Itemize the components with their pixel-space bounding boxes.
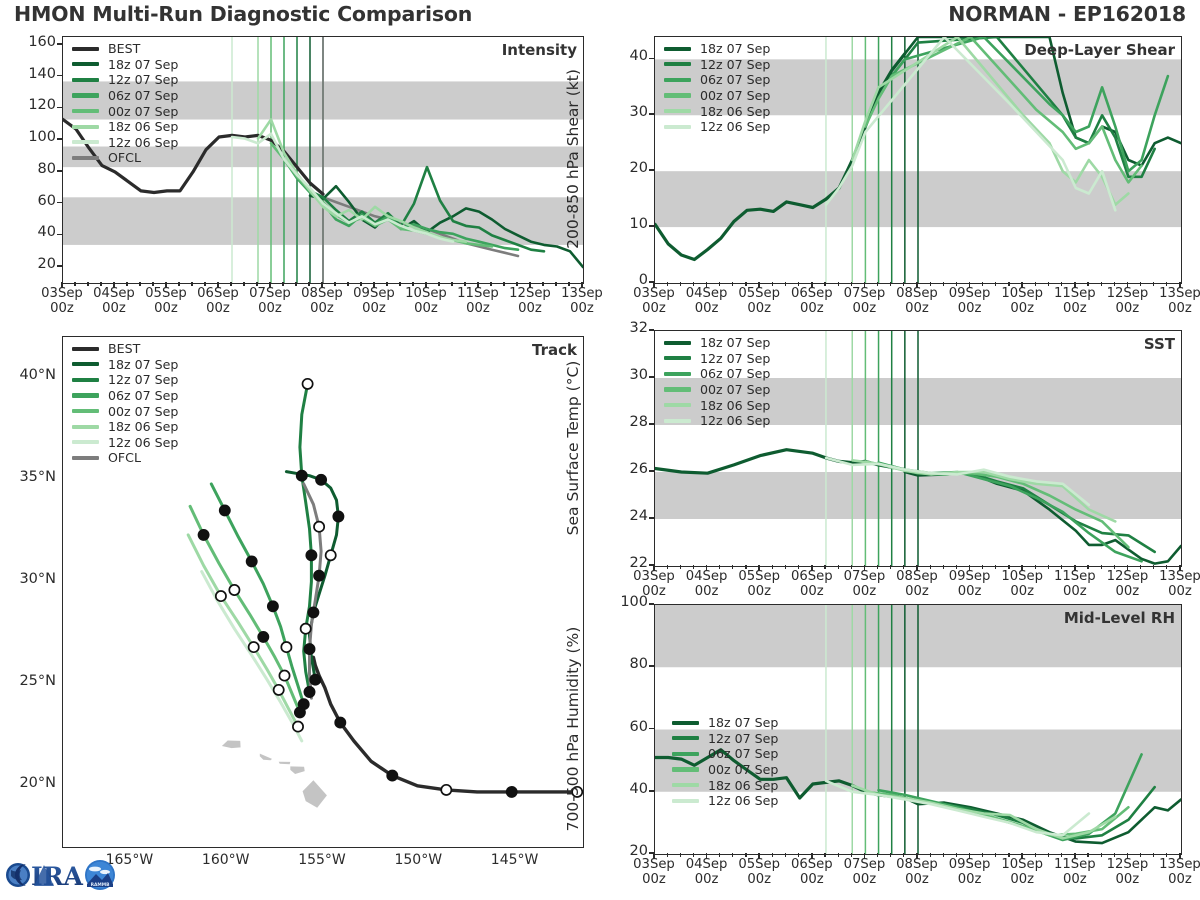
x-minor-tick — [1048, 565, 1049, 569]
x-tick-hour: 00z — [1063, 301, 1087, 316]
x-tick-hour: 00z — [1168, 872, 1192, 887]
x-minor-tick — [1101, 565, 1102, 569]
x-minor-tick — [256, 282, 257, 286]
x-minor-tick — [956, 565, 957, 569]
legend-item[interactable]: 00z 07 Sep — [72, 403, 178, 419]
legend-item[interactable]: 18z 06 Sep — [72, 419, 178, 435]
x-tick-date: 05Sep — [738, 286, 780, 301]
legend-item[interactable]: 18z 06 Sep — [672, 777, 778, 793]
y-tick-label: 160 — [10, 34, 56, 50]
x-tick-date: 11Sep — [1054, 857, 1096, 872]
x-tick-date: 05Sep — [738, 857, 780, 872]
legend-color-swatch — [72, 425, 99, 429]
x-tick-mark — [758, 565, 760, 571]
track-marker-filled — [333, 511, 343, 521]
legend-label: 12z 06 Sep — [108, 135, 178, 150]
x-tick-mark — [811, 853, 813, 859]
legend-label: BEST — [108, 41, 140, 56]
x-tick-hour: 00z — [466, 301, 490, 316]
x-tick-hour: 00z — [905, 584, 929, 599]
x-minor-tick — [851, 565, 852, 569]
y-tick-mark — [57, 202, 62, 204]
x-tick-mark — [1127, 853, 1129, 859]
x-minor-tick — [1166, 282, 1167, 286]
legend-item[interactable]: 00z 07 Sep — [664, 382, 770, 398]
x-minor-tick — [877, 282, 878, 286]
y-tick-mark — [57, 107, 62, 109]
x-minor-tick — [745, 565, 746, 569]
rh-panel-label: Mid-Level RH — [1064, 609, 1175, 627]
x-tick-mark — [916, 853, 918, 859]
shear-legend: 18z 07 Sep12z 07 Sep06z 07 Sep00z 07 Sep… — [664, 41, 770, 135]
y-tick-label: 40 — [10, 224, 56, 240]
legend-item[interactable]: 00z 07 Sep — [664, 88, 770, 104]
x-minor-tick — [1153, 853, 1154, 857]
x-minor-tick — [785, 282, 786, 286]
x-tick-date: 05Sep — [145, 286, 187, 301]
x-minor-tick — [1101, 282, 1102, 286]
legend-color-swatch — [72, 378, 99, 382]
legend-label: 18z 07 Sep — [108, 357, 178, 372]
legend-item[interactable]: 18z 07 Sep — [672, 715, 778, 731]
x-tick-date: 09Sep — [949, 857, 991, 872]
x-minor-tick — [1153, 282, 1154, 286]
x-minor-tick — [1048, 853, 1049, 857]
x-tick-mark — [1127, 282, 1129, 288]
track-marker-filled — [335, 718, 345, 728]
legend-item[interactable]: 12z 07 Sep — [664, 57, 770, 73]
track-marker-open — [216, 591, 226, 601]
x-minor-tick — [282, 282, 283, 286]
y-tick-label: 40 — [602, 781, 648, 797]
x-minor-tick — [1114, 853, 1115, 857]
x-minor-tick — [516, 282, 517, 286]
legend-color-swatch — [72, 440, 99, 444]
x-tick-date: 10Sep — [405, 286, 447, 301]
legend-item[interactable]: 18z 06 Sep — [664, 103, 770, 119]
legend-item[interactable]: 18z 07 Sep — [72, 357, 178, 373]
y-tick-label: 30 — [602, 367, 648, 383]
legend-color-swatch — [72, 347, 99, 351]
x-tick-date: 08Sep — [896, 286, 938, 301]
x-minor-tick — [680, 853, 681, 857]
track-marker-filled — [310, 675, 320, 685]
x-tick-date: 07Sep — [844, 286, 886, 301]
lat-tick-label: 35°N — [0, 469, 56, 485]
intensity-panel-label: Intensity — [502, 41, 577, 59]
x-tick-label: 13Sep00z — [1146, 287, 1200, 317]
x-tick-mark — [706, 565, 708, 571]
track-marker-filled — [306, 550, 316, 560]
x-minor-tick — [360, 282, 361, 286]
x-minor-tick — [1140, 853, 1141, 857]
x-minor-tick — [1114, 565, 1115, 569]
x-tick-hour: 00z — [958, 584, 982, 599]
legend-color-swatch — [664, 93, 691, 97]
y-tick-mark — [57, 265, 62, 267]
x-tick-date: 03Sep — [633, 857, 675, 872]
x-minor-tick — [74, 282, 75, 286]
x-tick-mark — [1179, 282, 1181, 288]
legend-label: 12z 06 Sep — [708, 793, 778, 808]
legend-label: 12z 07 Sep — [108, 72, 178, 87]
y-tick-mark — [649, 423, 654, 425]
x-tick-mark — [1179, 565, 1181, 571]
storm-title: NORMAN - EP162018 — [948, 2, 1186, 26]
legend-item[interactable]: 06z 07 Sep — [72, 88, 178, 104]
x-tick-hour: 00z — [800, 872, 824, 887]
x-minor-tick — [230, 282, 231, 286]
x-minor-tick — [982, 282, 983, 286]
x-minor-tick — [772, 282, 773, 286]
legend-item[interactable]: 00z 07 Sep — [72, 103, 178, 119]
legend-color-swatch — [672, 721, 699, 725]
x-tick-date: 04Sep — [686, 286, 728, 301]
legend-label: 06z 07 Sep — [700, 366, 770, 381]
x-tick-label: 13Sep00z — [548, 287, 616, 317]
x-minor-tick — [438, 282, 439, 286]
x-minor-tick — [178, 282, 179, 286]
y-tick-mark — [649, 517, 654, 519]
legend-item[interactable]: 12z 06 Sep — [664, 413, 770, 429]
legend-item[interactable]: 12z 07 Sep — [672, 731, 778, 747]
x-minor-tick — [995, 282, 996, 286]
x-tick-date: 11Sep — [457, 286, 499, 301]
x-minor-tick — [1087, 282, 1088, 286]
x-tick-hour: 00z — [1168, 584, 1192, 599]
x-tick-mark — [653, 282, 655, 288]
y-axis-label: Sea Surface Temp (°C) — [564, 360, 582, 535]
x-tick-mark — [916, 282, 918, 288]
y-tick-mark — [57, 43, 62, 45]
x-minor-tick — [930, 853, 931, 857]
legend-item[interactable]: 12z 06 Sep — [72, 435, 178, 451]
legend-color-swatch — [664, 125, 691, 129]
x-tick-mark — [706, 853, 708, 859]
x-minor-tick — [877, 565, 878, 569]
x-tick-hour: 00z — [747, 301, 771, 316]
x-tick-mark — [165, 282, 167, 288]
x-minor-tick — [745, 853, 746, 857]
x-tick-date: 08Sep — [896, 857, 938, 872]
x-minor-tick — [100, 282, 101, 286]
legend-label: 12z 07 Sep — [700, 57, 770, 72]
x-tick-date: 05Sep — [738, 569, 780, 584]
x-tick-hour: 00z — [905, 301, 929, 316]
x-minor-tick — [995, 853, 996, 857]
x-minor-tick — [798, 565, 799, 569]
y-tick-label: 60 — [602, 719, 648, 735]
x-tick-mark — [653, 853, 655, 859]
y-axis-label: 200-850 hPa Shear (kt) — [564, 69, 582, 249]
x-tick-hour: 00z — [1010, 872, 1034, 887]
x-tick-mark — [706, 282, 708, 288]
x-tick-hour: 00z — [800, 301, 824, 316]
y-tick-label: 30 — [602, 104, 648, 120]
x-tick-date: 13Sep — [1159, 569, 1200, 584]
legend-label: 00z 07 Sep — [108, 104, 178, 119]
lon-tick-label: 160°W — [186, 853, 266, 869]
legend-color-swatch — [664, 372, 691, 376]
x-tick-date: 08Sep — [301, 286, 343, 301]
x-minor-tick — [87, 282, 88, 286]
y-tick-mark — [649, 169, 654, 171]
y-tick-mark — [57, 75, 62, 77]
x-tick-hour: 00z — [102, 301, 126, 316]
x-tick-hour: 00z — [1116, 584, 1140, 599]
y-tick-mark — [649, 329, 654, 331]
x-tick-mark — [321, 282, 323, 288]
x-tick-mark — [1074, 282, 1076, 288]
x-tick-hour: 00z — [362, 301, 386, 316]
legend-item[interactable]: 12z 06 Sep — [72, 135, 178, 151]
intensity-legend: BEST18z 07 Sep12z 07 Sep06z 07 Sep00z 07… — [72, 41, 178, 166]
x-minor-tick — [680, 565, 681, 569]
x-tick-date: 09Sep — [353, 286, 395, 301]
x-tick-hour: 00z — [50, 301, 74, 316]
x-tick-mark — [113, 282, 115, 288]
x-tick-mark — [864, 853, 866, 859]
x-tick-date: 11Sep — [1054, 569, 1096, 584]
legend-item[interactable]: 18z 07 Sep — [72, 57, 178, 73]
legend-color-swatch — [72, 78, 99, 82]
x-tick-hour: 00z — [570, 301, 594, 316]
x-tick-mark — [1021, 565, 1023, 571]
x-minor-tick — [1140, 282, 1141, 286]
x-minor-tick — [1035, 853, 1036, 857]
track-marker-open — [301, 624, 311, 634]
x-minor-tick — [956, 282, 957, 286]
x-minor-tick — [667, 282, 668, 286]
y-tick-label: 28 — [602, 414, 648, 430]
track-marker-open — [314, 522, 324, 532]
x-tick-mark — [916, 565, 918, 571]
x-tick-hour: 00z — [695, 584, 719, 599]
x-tick-date: 07Sep — [249, 286, 291, 301]
x-tick-hour: 00z — [747, 872, 771, 887]
legend-item[interactable]: OFCL — [72, 450, 178, 466]
x-tick-hour: 00z — [747, 584, 771, 599]
x-minor-tick — [295, 282, 296, 286]
y-tick-label: 20 — [10, 256, 56, 272]
legend-item[interactable]: 18z 07 Sep — [664, 41, 770, 57]
x-tick-date: 06Sep — [197, 286, 239, 301]
legend-item[interactable]: 12z 07 Sep — [72, 72, 178, 88]
x-tick-hour: 00z — [414, 301, 438, 316]
x-tick-mark — [864, 282, 866, 288]
x-tick-mark — [425, 282, 427, 288]
lat-tick-label: 25°N — [0, 673, 56, 689]
x-tick-mark — [1021, 282, 1023, 288]
y-tick-label: 100 — [10, 129, 56, 145]
legend-item[interactable]: 12z 07 Sep — [72, 372, 178, 388]
legend-item[interactable]: OFCL — [72, 150, 178, 166]
legend-label: 18z 06 Sep — [708, 778, 778, 793]
x-minor-tick — [745, 282, 746, 286]
legend-item[interactable]: 06z 07 Sep — [664, 366, 770, 382]
x-minor-tick — [1166, 853, 1167, 857]
track-marker-open — [274, 685, 284, 695]
legend-item[interactable]: 12z 07 Sep — [664, 351, 770, 367]
x-minor-tick — [1166, 565, 1167, 569]
legend-color-swatch — [664, 78, 691, 82]
legend-color-swatch — [664, 356, 691, 360]
x-tick-mark — [758, 282, 760, 288]
legend-color-swatch — [72, 62, 99, 66]
x-minor-tick — [982, 853, 983, 857]
x-tick-date: 04Sep — [686, 857, 728, 872]
x-minor-tick — [851, 853, 852, 857]
x-tick-date: 08Sep — [896, 569, 938, 584]
x-tick-mark — [969, 565, 971, 571]
x-minor-tick — [693, 565, 694, 569]
x-tick-mark — [529, 282, 531, 288]
x-minor-tick — [943, 282, 944, 286]
legend-color-swatch — [664, 403, 691, 407]
legend-color-swatch — [664, 419, 691, 423]
x-minor-tick — [943, 565, 944, 569]
x-tick-date: 13Sep — [1159, 286, 1200, 301]
x-tick-hour: 00z — [800, 584, 824, 599]
legend-label: 18z 07 Sep — [708, 715, 778, 730]
x-minor-tick — [1101, 853, 1102, 857]
legend-item[interactable]: 12z 06 Sep — [664, 119, 770, 135]
page-title: HMON Multi-Run Diagnostic Comparison — [14, 2, 472, 26]
legend-color-swatch — [664, 62, 691, 66]
legend-item[interactable]: 18z 06 Sep — [72, 119, 178, 135]
x-minor-tick — [667, 565, 668, 569]
x-tick-hour: 00z — [1010, 301, 1034, 316]
y-tick-label: 20 — [602, 160, 648, 176]
x-tick-mark — [811, 282, 813, 288]
x-minor-tick — [412, 282, 413, 286]
x-minor-tick — [903, 282, 904, 286]
x-tick-mark — [581, 282, 583, 288]
legend-label: 18z 07 Sep — [700, 41, 770, 56]
x-minor-tick — [943, 853, 944, 857]
x-minor-tick — [1061, 282, 1062, 286]
sst-panel-label: SST — [1144, 335, 1175, 353]
x-tick-date: 10Sep — [1001, 569, 1043, 584]
legend-color-swatch — [72, 409, 99, 413]
legend-color-swatch — [672, 799, 699, 803]
legend-color-swatch — [72, 393, 99, 397]
x-minor-tick — [838, 853, 839, 857]
y-tick-label: 80 — [602, 656, 648, 672]
track-marker-open — [303, 379, 313, 389]
x-minor-tick — [772, 853, 773, 857]
x-tick-date: 13Sep — [561, 286, 603, 301]
track-marker-open — [293, 722, 303, 732]
x-tick-date: 11Sep — [1054, 286, 1096, 301]
x-tick-date: 12Sep — [1107, 857, 1149, 872]
legend-item[interactable]: 06z 07 Sep — [672, 746, 778, 762]
x-minor-tick — [451, 282, 452, 286]
x-minor-tick — [1008, 565, 1009, 569]
x-tick-mark — [373, 282, 375, 288]
x-minor-tick — [1061, 853, 1062, 857]
x-minor-tick — [719, 565, 720, 569]
x-tick-mark — [653, 565, 655, 571]
x-tick-mark — [217, 282, 219, 288]
x-tick-mark — [1021, 853, 1023, 859]
legend-color-swatch — [72, 362, 99, 366]
x-minor-tick — [719, 853, 720, 857]
x-minor-tick — [243, 282, 244, 286]
legend-label: 12z 07 Sep — [708, 731, 778, 746]
legend-label: 00z 07 Sep — [700, 88, 770, 103]
x-minor-tick — [399, 282, 400, 286]
x-tick-date: 13Sep — [1159, 857, 1200, 872]
legend-label: 00z 07 Sep — [700, 382, 770, 397]
x-minor-tick — [126, 282, 127, 286]
x-tick-date: 09Sep — [949, 569, 991, 584]
x-minor-tick — [851, 282, 852, 286]
legend-label: 12z 07 Sep — [108, 372, 178, 387]
track-marker-filled — [199, 530, 209, 540]
cira-logo-svg: IRA RAMMB — [4, 852, 122, 898]
x-tick-hour: 00z — [1010, 584, 1034, 599]
legend-item[interactable]: 18z 06 Sep — [664, 397, 770, 413]
x-minor-tick — [555, 282, 556, 286]
lat-tick-label: 40°N — [0, 367, 56, 383]
legend-label: 18z 06 Sep — [108, 119, 178, 134]
x-tick-date: 09Sep — [949, 286, 991, 301]
x-tick-hour: 00z — [154, 301, 178, 316]
x-minor-tick — [772, 565, 773, 569]
track-marker-filled — [295, 707, 305, 717]
legend-color-swatch — [672, 783, 699, 787]
legend-color-swatch — [72, 93, 99, 97]
x-tick-hour: 00z — [1063, 584, 1087, 599]
y-tick-mark — [57, 170, 62, 172]
lat-tick-label: 20°N — [0, 775, 56, 791]
x-minor-tick — [1114, 282, 1115, 286]
legend-color-swatch — [664, 341, 691, 345]
x-minor-tick — [903, 565, 904, 569]
x-minor-tick — [386, 282, 387, 286]
x-tick-label: 13Sep00z — [1146, 858, 1200, 888]
legend-item[interactable]: 18z 07 Sep — [664, 335, 770, 351]
legend-item[interactable]: 06z 07 Sep — [72, 388, 178, 404]
x-minor-tick — [838, 565, 839, 569]
legend-label: 06z 07 Sep — [108, 88, 178, 103]
track-legend: BEST18z 07 Sep12z 07 Sep06z 07 Sep00z 07… — [72, 341, 178, 466]
x-tick-hour: 00z — [695, 872, 719, 887]
y-tick-label: 100 — [602, 594, 648, 610]
y-tick-mark — [649, 58, 654, 60]
x-minor-tick — [877, 853, 878, 857]
x-tick-date: 12Sep — [1107, 569, 1149, 584]
track-marker-open — [279, 671, 289, 681]
y-tick-label: 60 — [10, 193, 56, 209]
legend-label: 18z 06 Sep — [700, 104, 770, 119]
legend-item[interactable]: BEST — [72, 41, 178, 57]
legend-label: 12z 06 Sep — [700, 413, 770, 428]
sst-legend: 18z 07 Sep12z 07 Sep06z 07 Sep00z 07 Sep… — [664, 335, 770, 429]
legend-item[interactable]: 06z 07 Sep — [664, 72, 770, 88]
x-minor-tick — [824, 565, 825, 569]
y-tick-label: 26 — [602, 461, 648, 477]
legend-label: OFCL — [108, 450, 141, 465]
x-minor-tick — [308, 282, 309, 286]
x-minor-tick — [732, 565, 733, 569]
x-tick-mark — [758, 853, 760, 859]
legend-item[interactable]: 12z 06 Sep — [672, 793, 778, 809]
legend-item[interactable]: 00z 07 Sep — [672, 762, 778, 778]
legend-item[interactable]: BEST — [72, 341, 178, 357]
x-tick-date: 10Sep — [1001, 857, 1043, 872]
